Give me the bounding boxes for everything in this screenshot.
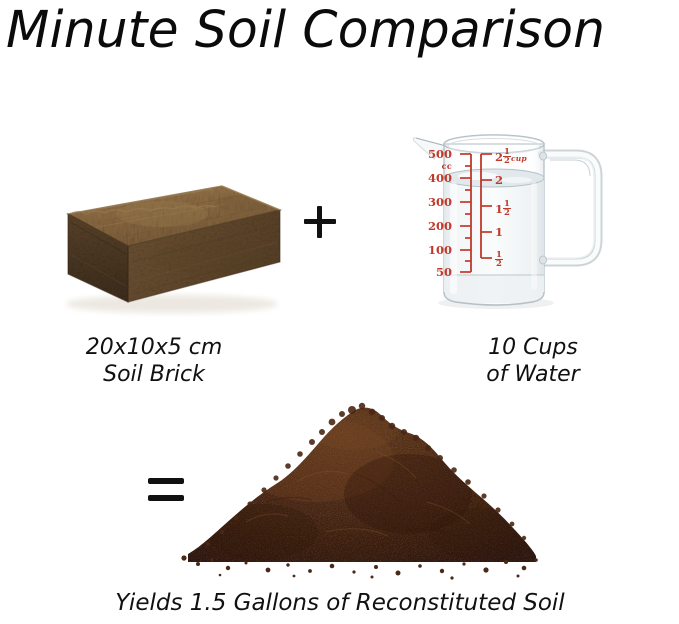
brick-caption: 20x10x5 cm Soil Brick bbox=[14, 334, 294, 388]
soil-brick-image bbox=[12, 162, 284, 320]
measuring-cup-image: 500 cc 400 300 200 100 50 212cup 2 112 1… bbox=[400, 112, 640, 317]
plus-vertical-bar bbox=[317, 206, 322, 238]
yield-caption: Yields 1.5 Gallons of Reconstituted Soil bbox=[20, 588, 660, 618]
soil-pile-image bbox=[176, 382, 544, 580]
infographic-canvas: Minute Soil Comparison bbox=[0, 0, 679, 624]
plus-operator bbox=[303, 196, 337, 248]
page-title: Minute Soil Comparison bbox=[6, 2, 664, 64]
water-caption: 10 Cups of Water bbox=[400, 334, 666, 388]
